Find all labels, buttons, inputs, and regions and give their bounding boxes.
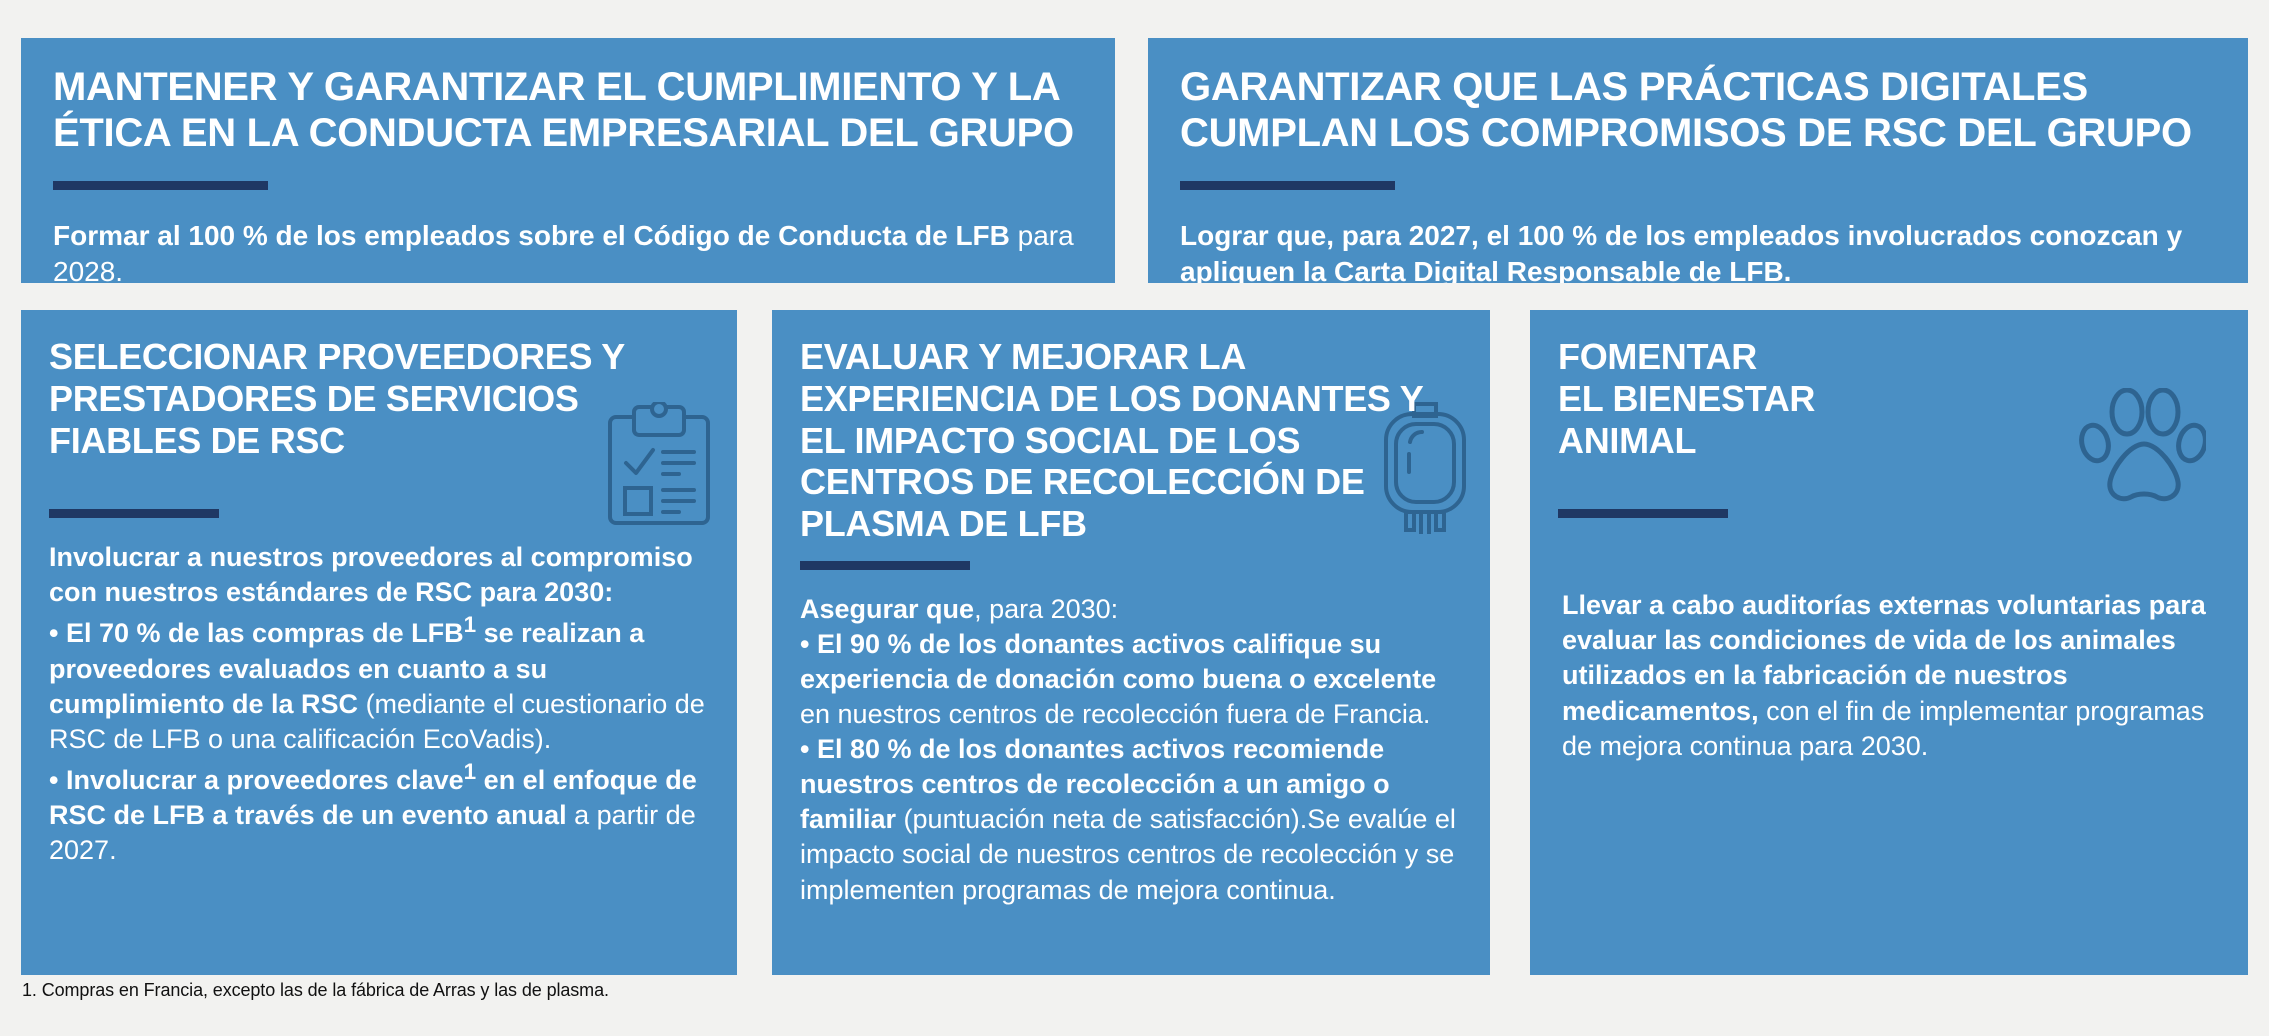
card-suppliers-body: Involucrar a nuestros proveedores al com… — [49, 540, 709, 868]
card-compliance: MANTENER Y GARANTIZAR EL CUMPLIMIENTO Y … — [21, 38, 1115, 283]
card-digital-body: Lograr que, para 2027, el 100 % de los e… — [1180, 218, 2216, 283]
card-digital-practices: GARANTIZAR QUE LAS PRÁCTICAS DIGITALES C… — [1148, 38, 2248, 283]
card-animal-title: FOMENTAREL BIENESTARANIMAL — [1558, 336, 2220, 461]
card-donors-experience: EVALUAR Y MEJORAR LA EXPERIENCIA DE LOS … — [772, 310, 1490, 975]
footnote-text: 1. Compras en Francia, excepto las de la… — [22, 980, 609, 1001]
card-donors-accent-bar — [800, 561, 970, 570]
card-animal-welfare: FOMENTAREL BIENESTARANIMAL Llevar a cabo… — [1530, 310, 2248, 975]
card-donors-title: EVALUAR Y MEJORAR LA EXPERIENCIA DE LOS … — [800, 336, 1462, 545]
card-compliance-title: MANTENER Y GARANTIZAR EL CUMPLIMIENTO Y … — [53, 64, 1083, 157]
card-digital-title: GARANTIZAR QUE LAS PRÁCTICAS DIGITALES C… — [1180, 64, 2216, 157]
objectives-board: MANTENER Y GARANTIZAR EL CUMPLIMIENTO Y … — [0, 0, 2269, 1036]
card-digital-accent-bar — [1180, 181, 1395, 190]
card-compliance-accent-bar — [53, 181, 268, 190]
card-compliance-body: Formar al 100 % de los empleados sobre e… — [53, 218, 1083, 283]
card-animal-accent-bar — [1558, 509, 1728, 518]
card-animal-body: Llevar a cabo auditorías externas volunt… — [1558, 588, 2220, 763]
card-suppliers-accent-bar — [49, 509, 219, 518]
card-suppliers: SELECCIONAR PROVEEDORES Y PRESTADORES DE… — [21, 310, 737, 975]
card-suppliers-title: SELECCIONAR PROVEEDORES Y PRESTADORES DE… — [49, 336, 709, 461]
card-donors-body: Asegurar que, para 2030:• El 90 % de los… — [800, 592, 1462, 908]
